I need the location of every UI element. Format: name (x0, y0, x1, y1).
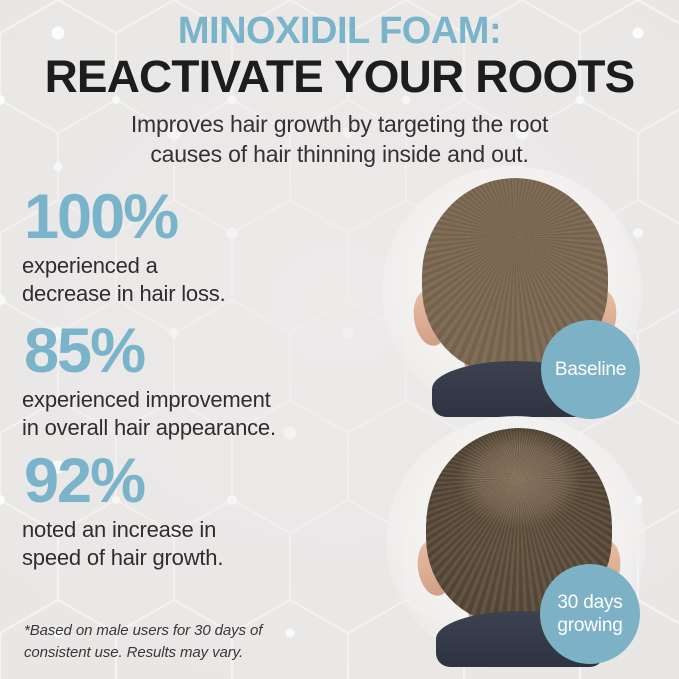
header: MINOXIDIL FOAM: REACTIVATE YOUR ROOTS Im… (0, 0, 679, 169)
stat-caption-decrease-hair-loss: experienced a decrease in hair loss. (22, 252, 392, 308)
stat-caption-line-1: experienced improvement (22, 386, 392, 414)
stat-value-100-percent: 100% (24, 186, 392, 249)
stat-value-92-percent: 92% (24, 450, 392, 513)
stat-caption-growth-speed: noted an increase in speed of hair growt… (22, 516, 392, 572)
stat-item-decrease-hair-loss: 100% experienced a decrease in hair loss… (22, 186, 392, 308)
badge-30-days: 30 days growing (540, 564, 640, 664)
stat-caption-line-1: noted an increase in (22, 516, 392, 544)
badge-baseline-line-1: Baseline (555, 358, 626, 381)
footnote-disclaimer: *Based on male users for 30 days of cons… (24, 620, 354, 664)
subtitle-line-2: causes of hair thinning inside and out. (40, 139, 640, 169)
statistics-list: 100% experienced a decrease in hair loss… (22, 186, 392, 572)
stat-item-growth-speed: 92% noted an increase in speed of hair g… (22, 450, 392, 572)
subtitle: Improves hair growth by targeting the ro… (40, 109, 640, 169)
stat-caption-hair-appearance: experienced improvement in overall hair … (22, 386, 392, 442)
badge-30-days-line-1: 30 days (557, 591, 622, 614)
footnote-line-1: *Based on male users for 30 days of (24, 620, 354, 642)
stat-caption-line-2: decrease in hair loss. (22, 280, 392, 308)
page-title-secondary: REACTIVATE YOUR ROOTS (0, 53, 679, 100)
footnote-line-2: consistent use. Results may vary. (24, 642, 354, 664)
stat-caption-line-2: in overall hair appearance. (22, 414, 392, 442)
page-title-primary: MINOXIDIL FOAM: (0, 11, 679, 51)
stat-caption-line-1: experienced a (22, 252, 392, 280)
subtitle-line-1: Improves hair growth by targeting the ro… (40, 109, 640, 139)
badge-baseline-text: Baseline (551, 358, 630, 381)
stat-caption-line-2: speed of hair growth. (22, 544, 392, 572)
badge-30-days-line-2: growing (557, 614, 622, 637)
stat-value-85-percent: 85% (24, 320, 392, 383)
infographic-poster: MINOXIDIL FOAM: REACTIVATE YOUR ROOTS Im… (0, 0, 679, 679)
stat-item-hair-appearance: 85% experienced improvement in overall h… (22, 320, 392, 442)
badge-30-days-text: 30 days growing (553, 591, 626, 637)
badge-baseline: Baseline (541, 320, 640, 419)
